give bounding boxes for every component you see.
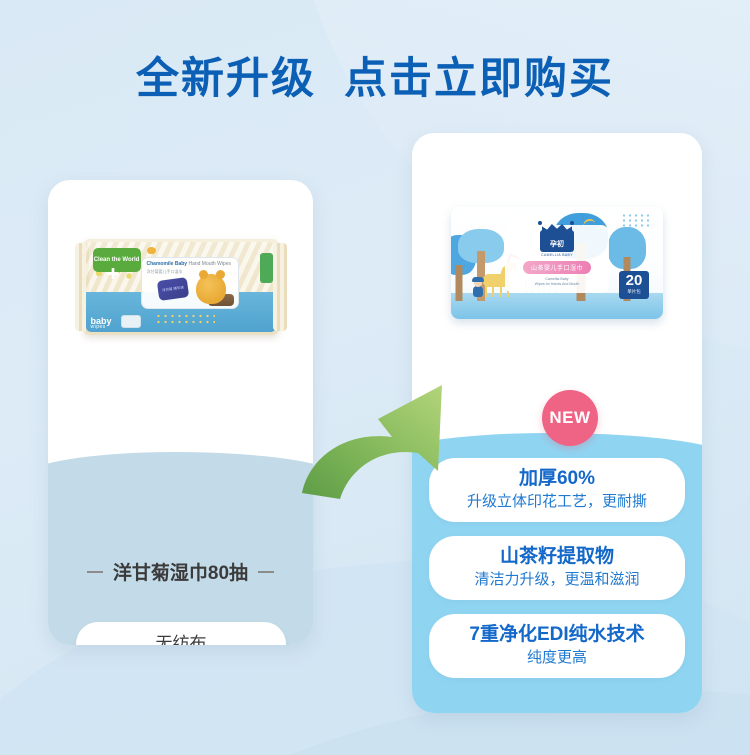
package-pink-label: 山茶婴儿手口湿巾: [523, 261, 591, 274]
package-title-en: Chamomile Baby Hand Mouth Wipes: [147, 261, 232, 267]
camellia-wipes-package: 孕初 CAMELLIA BABY 山茶婴儿手口湿巾 Camellia Baby …: [451, 207, 663, 319]
new-badge: NEW: [542, 390, 598, 446]
old-product-title-text: 洋甘菊湿巾80抽: [113, 558, 248, 585]
new-feature-pill-2[interactable]: 山茶籽提取物 清洁力升级，更温和滋润: [429, 536, 685, 600]
new-product-image: 孕初 CAMELLIA BABY 山茶婴儿手口湿巾 Camellia Baby …: [412, 188, 702, 338]
package-title-cn: 洋甘菊婴儿手口湿巾: [147, 269, 183, 275]
crown-logo-icon: 孕初: [540, 230, 574, 252]
new-feature-pill-1[interactable]: 加厚60% 升级立体印花工艺，更耐撕: [429, 458, 685, 522]
package-side-sticker: [260, 253, 273, 283]
package-count-number: 20: [619, 273, 649, 288]
old-product-card[interactable]: Clean the World Chamomile Baby Hand Mout…: [48, 180, 313, 645]
package-essence-block: 洋甘菊 精华液: [156, 277, 188, 301]
package-essence-text: 洋甘菊 精华液: [156, 277, 188, 301]
package-subtitle-en: Camellia Baby Wipes for Hands And Mouth: [535, 277, 580, 288]
brand-logo-text: Clean the World: [94, 257, 140, 263]
title-dash-left: [87, 571, 103, 573]
package-sparkles: [621, 213, 651, 229]
brand-name-cn: 孕初: [550, 239, 564, 249]
new-feature-1-sub: 升级立体印花工艺，更耐撕: [467, 493, 647, 512]
package-label-panel: 孕初 CAMELLIA BABY 山茶婴儿手口湿巾 Camellia Baby …: [505, 225, 609, 293]
new-feature-2-main: 山茶籽提取物: [500, 546, 614, 569]
rider-illustration: [471, 279, 485, 297]
old-product-image: Clean the World Chamomile Baby Hand Mout…: [48, 222, 313, 352]
old-feature-1-main: 无纺布: [156, 633, 207, 645]
new-feature-3-main: 7重净化EDI纯水技术: [469, 624, 644, 647]
old-feature-pill-1[interactable]: 无纺布: [76, 622, 286, 645]
page-title: 全新升级 点击立即购买: [0, 44, 750, 106]
package-bubbles: [155, 313, 215, 325]
new-feature-3-sub: 纯度更高: [527, 649, 587, 668]
chamomile-wipes-package: Clean the World Chamomile Baby Hand Mout…: [83, 239, 279, 335]
bird-icon: [147, 247, 156, 254]
package-count-unit: 单片包: [619, 289, 649, 295]
new-feature-1-main: 加厚60%: [519, 468, 595, 491]
brand-name-en: CAMELLIA BABY: [541, 253, 573, 257]
bear-illustration: [196, 274, 226, 304]
new-feature-pill-3[interactable]: 7重净化EDI纯水技术 纯度更高: [429, 614, 685, 678]
package-baby-wipes-label: baby wipes: [91, 317, 112, 330]
package-label-window: Chamomile Baby Hand Mouth Wipes 洋甘菊婴儿手口湿…: [141, 257, 239, 309]
new-feature-2-sub: 清洁力升级，更温和滋润: [474, 571, 639, 590]
title-dash-right: [258, 571, 274, 573]
package-lid: [121, 315, 141, 328]
brand-logo-badge: Clean the World: [93, 248, 141, 272]
package-count-badge: 20 单片包: [619, 271, 649, 299]
old-product-title: 洋甘菊湿巾80抽: [48, 558, 313, 585]
